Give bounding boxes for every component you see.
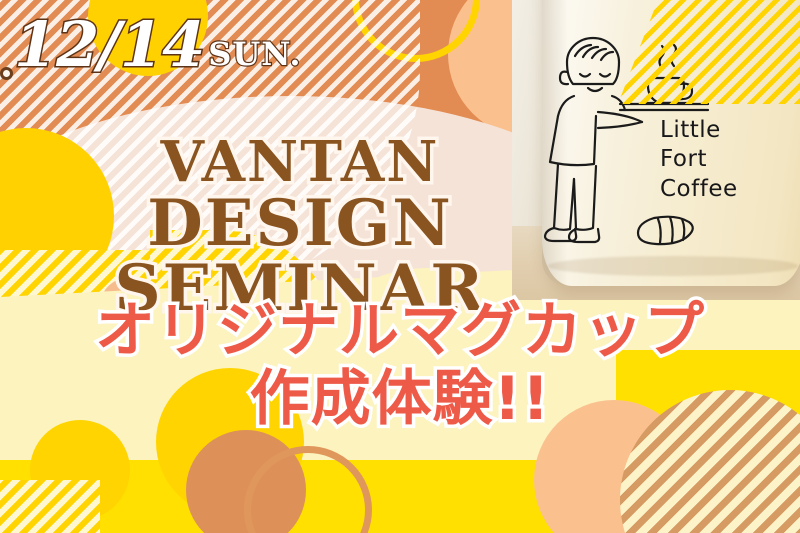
event-title: VANTAN DESIGN SEMINAR xyxy=(0,134,600,322)
mug-brand-line-3: Coffee xyxy=(660,175,790,204)
mug-brand-line-1: Little xyxy=(660,116,790,145)
mug-brand-line-2: Fort xyxy=(660,145,790,174)
event-date: 12/14 SUN. xyxy=(14,14,302,76)
decor-dot-outline-left xyxy=(0,67,13,80)
event-subtitle-line-2: 作成体験!! xyxy=(0,368,800,432)
event-date-main: 12/14 xyxy=(14,14,204,76)
event-subtitle: オリジナルマグカップ 作成体験!! xyxy=(0,300,800,431)
seminar-banner: Little Fort Coffee 12/14 SUN. VANTAN DES… xyxy=(0,0,800,533)
event-date-day: SUN. xyxy=(208,38,301,76)
decor-stripes-bottom-left xyxy=(0,480,100,533)
event-title-line-1: VANTAN xyxy=(0,134,600,191)
mug-brand-text: Little Fort Coffee xyxy=(660,116,790,204)
event-subtitle-line-1: オリジナルマグカップ xyxy=(0,300,800,364)
